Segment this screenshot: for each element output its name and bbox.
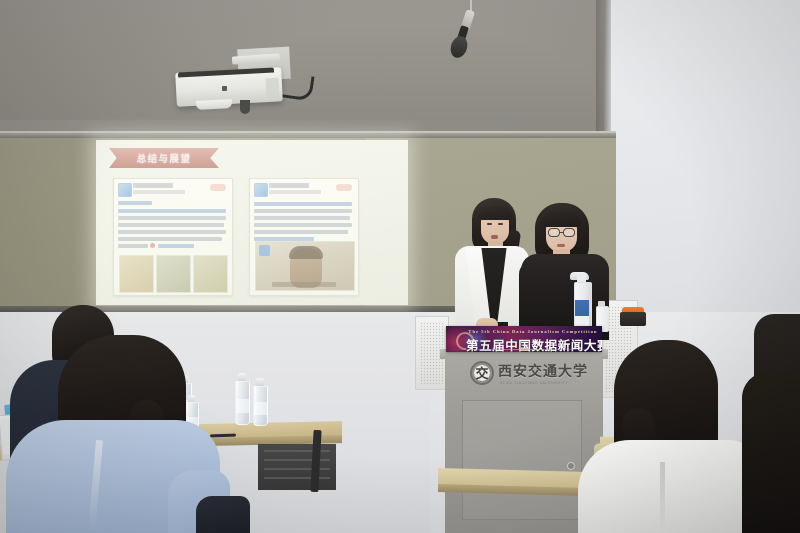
- video-watermark-icon: [259, 245, 270, 256]
- heart-icon: [150, 243, 155, 248]
- presenter-left-eye: [487, 223, 492, 225]
- banner-accent-line: [446, 349, 602, 350]
- slide-title: 总结与展望: [137, 151, 192, 165]
- post-text-line: [118, 223, 224, 227]
- competition-banner: The 5th China Data Journalism Competitio…: [446, 326, 602, 352]
- water-bottle: [253, 386, 268, 426]
- projected-slide: 总结与展望: [96, 140, 408, 305]
- follow-badge-icon: [210, 184, 226, 191]
- university-logo-icon: 交: [470, 361, 494, 385]
- presenter-left-mouth: [491, 235, 498, 239]
- podium-cabinet-door[interactable]: [462, 400, 582, 520]
- post-text-line: [118, 230, 226, 234]
- dark-container: [620, 312, 646, 326]
- presenter-left-fringe: [478, 206, 512, 220]
- video-caption-bar: [272, 282, 336, 287]
- post-text-line: [254, 230, 348, 234]
- audience-front-blue-lap: [196, 496, 250, 533]
- projector-lens: [196, 99, 232, 110]
- account-name-left: [133, 183, 173, 188]
- slide-title-ribbon: 总结与展望: [109, 148, 219, 168]
- post-text-line: [118, 209, 226, 213]
- post-text-line: [118, 237, 222, 241]
- glasses-bridge: [560, 232, 564, 233]
- university-name-english: XI'AN JIAOTONG UNIVERSITY: [500, 380, 596, 386]
- post-text-line: [254, 216, 350, 220]
- spray-label: [575, 300, 589, 316]
- projector-vent: [265, 78, 279, 99]
- audience-right-black-body: [742, 372, 800, 533]
- post-text-line: [118, 244, 148, 248]
- shirt-seam: [660, 462, 665, 533]
- weibo-card-left: [113, 178, 233, 296]
- post-text-line: [118, 216, 226, 220]
- card-right-header: [254, 183, 354, 196]
- classroom-photo: 总结与展望: [0, 0, 800, 533]
- post-text-line: [254, 202, 352, 206]
- post-photo: [156, 255, 191, 293]
- audience-right-white-body: [578, 440, 768, 533]
- podium-lock-icon[interactable]: [567, 462, 575, 470]
- bottle-label: [254, 402, 267, 415]
- projector-indicator-icon: [222, 86, 227, 91]
- avatar-icon: [254, 183, 268, 197]
- university-name-chinese: 西安交通大学: [498, 362, 598, 380]
- video-subject-hair: [289, 246, 323, 259]
- right-wall: [608, 0, 800, 340]
- account-name-right: [269, 183, 309, 188]
- banner-english-title: The 5th China Data Journalism Competitio…: [468, 329, 598, 334]
- follow-badge-icon: [336, 184, 352, 191]
- avatar-icon: [118, 183, 132, 197]
- post-text-line: [254, 209, 352, 213]
- account-meta-left: [133, 190, 185, 194]
- presenter-right-fringe: [542, 212, 581, 227]
- bottle-label: [236, 399, 249, 413]
- post-tag-line: [158, 244, 194, 248]
- post-photo: [119, 255, 154, 293]
- projector-mount-bracket: [240, 100, 250, 114]
- post-photo: [193, 255, 228, 293]
- post-video-thumbnail[interactable]: [255, 241, 355, 291]
- card-left-header: [118, 183, 228, 196]
- glasses-icon: [563, 228, 575, 237]
- presenter-left-eye: [498, 223, 503, 225]
- post-text-line: [254, 223, 352, 227]
- water-bottle: [235, 381, 250, 425]
- presenter-right-mouth: [557, 244, 565, 247]
- hashtag-left: [118, 201, 152, 205]
- weibo-card-right: [249, 178, 359, 296]
- glasses-icon: [548, 228, 560, 237]
- account-meta-right: [269, 190, 321, 194]
